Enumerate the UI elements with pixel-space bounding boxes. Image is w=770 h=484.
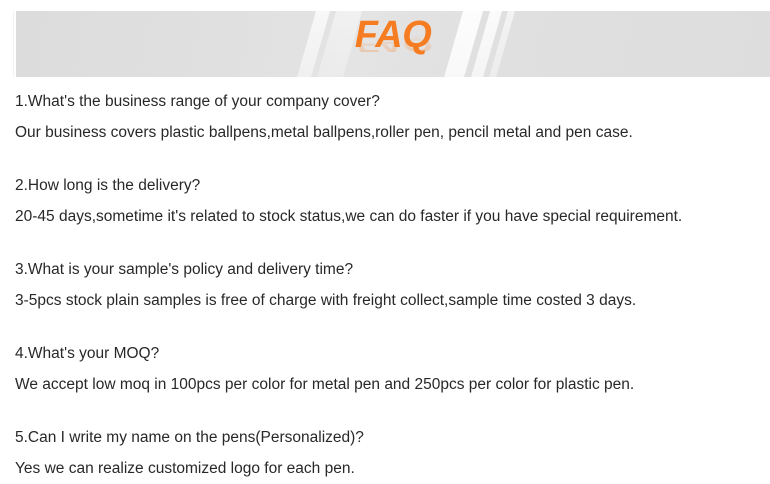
faq-answer: 3-5pcs stock plain samples is free of ch…	[15, 285, 760, 316]
faq-question: 1.What's the business range of your comp…	[15, 86, 760, 117]
faq-item: 5.Can I write my name on the pens(Person…	[15, 422, 760, 484]
faq-question: 4.What's your MOQ?	[15, 338, 760, 369]
banner-title-wrap: FAQ FAQ	[16, 11, 770, 77]
faq-item: 4.What's your MOQ? We accept low moq in …	[15, 338, 760, 400]
faq-item: 1.What's the business range of your comp…	[15, 86, 760, 148]
faq-answer: Our business covers plastic ballpens,met…	[15, 117, 760, 148]
faq-item: 2.How long is the delivery? 20-45 days,s…	[15, 170, 760, 232]
faq-answer: 20-45 days,sometime it's related to stoc…	[15, 201, 760, 232]
faq-question: 3.What is your sample's policy and deliv…	[15, 254, 760, 285]
faq-question: 5.Can I write my name on the pens(Person…	[15, 422, 760, 453]
faq-item: 3.What is your sample's policy and deliv…	[15, 254, 760, 316]
faq-page: FAQ FAQ 1.What's the business range of y…	[0, 0, 770, 472]
banner-left-edge-line	[13, 11, 14, 77]
faq-answer: Yes we can realize customized logo for e…	[15, 453, 760, 484]
faq-answer: We accept low moq in 100pcs per color fo…	[15, 369, 760, 400]
faq-banner: FAQ FAQ	[16, 11, 770, 77]
faq-list: 1.What's the business range of your comp…	[15, 86, 760, 484]
page-title-reflection: FAQ	[16, 34, 770, 55]
faq-question: 2.How long is the delivery?	[15, 170, 760, 201]
